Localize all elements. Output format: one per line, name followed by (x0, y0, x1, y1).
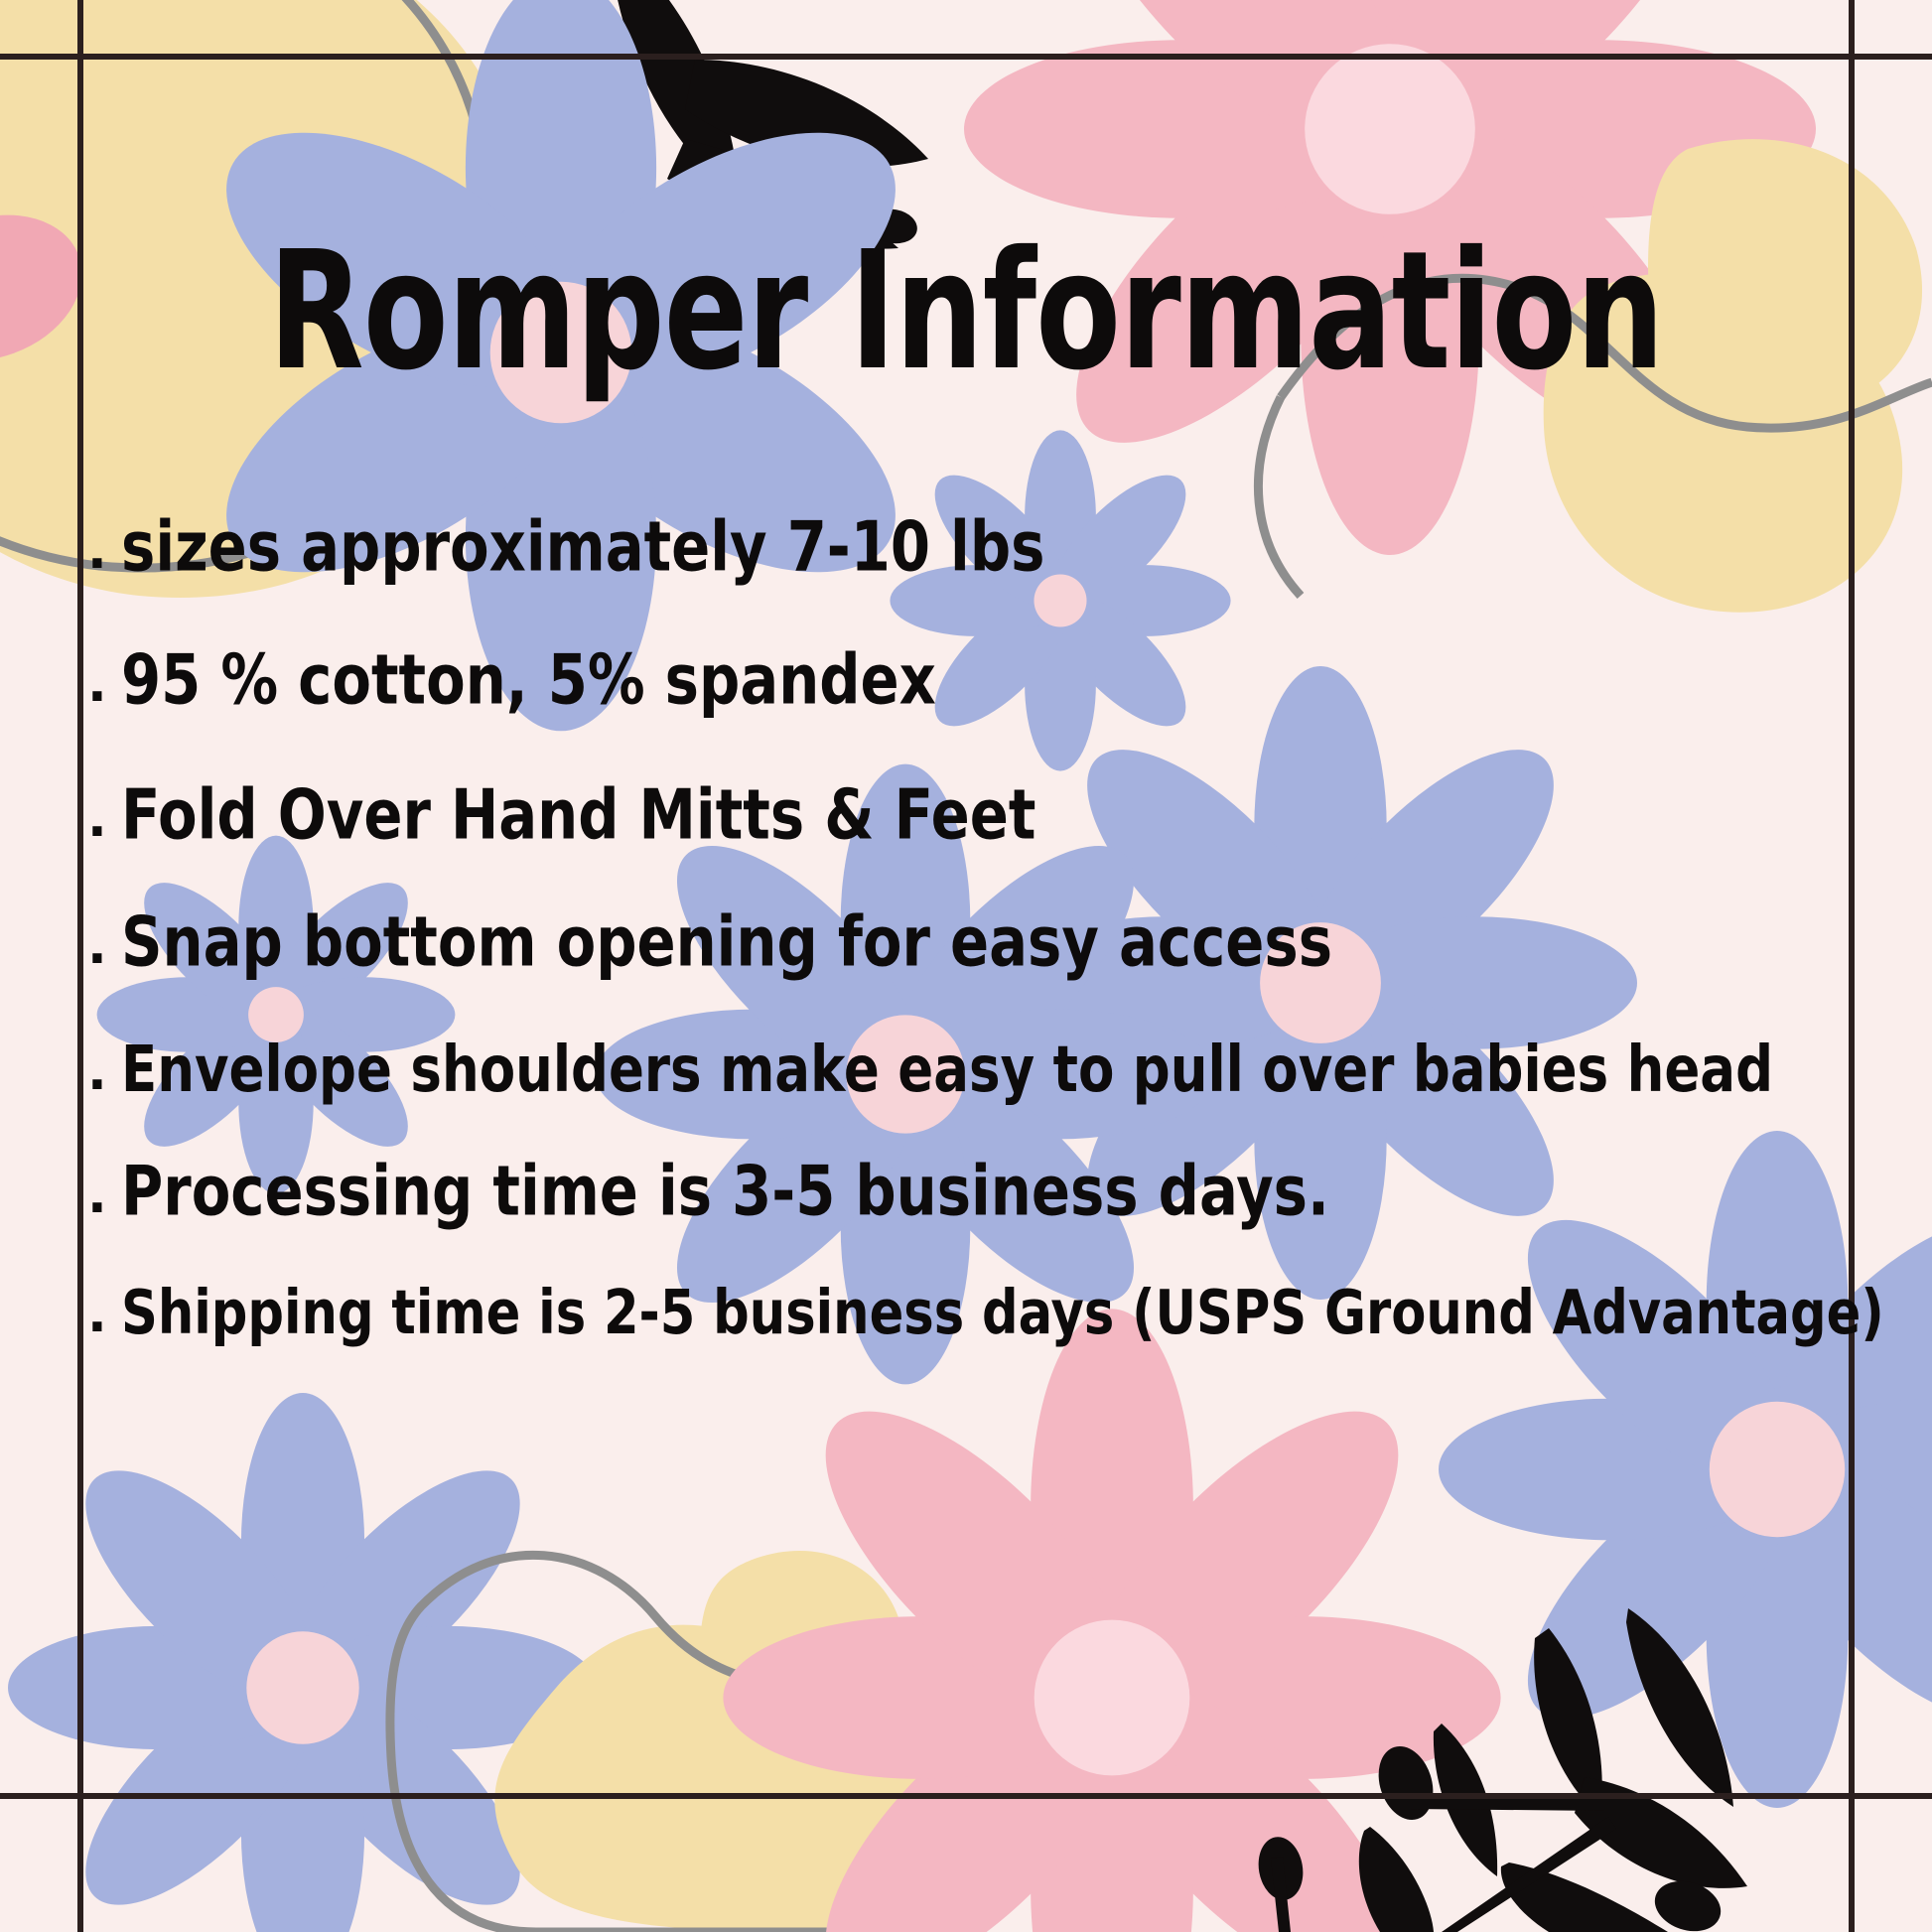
list-item-label: Snap bottom opening for easy access (121, 907, 1332, 976)
bullet-marker: . (87, 658, 107, 710)
list-item: . 95 % cotton, 5% spandex (87, 649, 1892, 711)
bullet-marker: . (87, 525, 107, 577)
bullet-marker: . (87, 1046, 107, 1098)
list-item: . Shipping time is 2-5 business days (US… (87, 1286, 1892, 1340)
list-item-label: Shipping time is 2-5 business days (USPS… (121, 1283, 1884, 1344)
list-item: . Envelope shoulders make easy to pull o… (87, 1042, 1892, 1099)
list-item: . Processing time is 3-5 business days. (87, 1161, 1892, 1222)
bullet-marker: . (87, 793, 107, 845)
list-item-label: 95 % cotton, 5% spandex (121, 645, 936, 714)
list-item: . Snap bottom opening for easy access (87, 911, 1892, 973)
bullet-marker: . (87, 920, 107, 972)
page-title: Romper Information (116, 230, 1816, 394)
list-item-label: Fold Over Hand Mitts & Feet (121, 780, 1035, 849)
list-item-label: sizes approximately 7-10 lbs (121, 512, 1044, 581)
list-item: . sizes approximately 7-10 lbs (87, 516, 1892, 578)
list-item-label: Envelope shoulders make easy to pull ove… (121, 1039, 1773, 1103)
bullet-marker: . (87, 1289, 107, 1340)
poster-canvas: Romper Information . sizes approximately… (0, 0, 1932, 1932)
bullet-marker: . (87, 1170, 107, 1221)
romper-info-list: . sizes approximately 7-10 lbs . 95 % co… (87, 516, 1892, 1340)
list-item: . Fold Over Hand Mitts & Feet (87, 784, 1892, 846)
list-item-label: Processing time is 3-5 business days. (121, 1157, 1329, 1225)
